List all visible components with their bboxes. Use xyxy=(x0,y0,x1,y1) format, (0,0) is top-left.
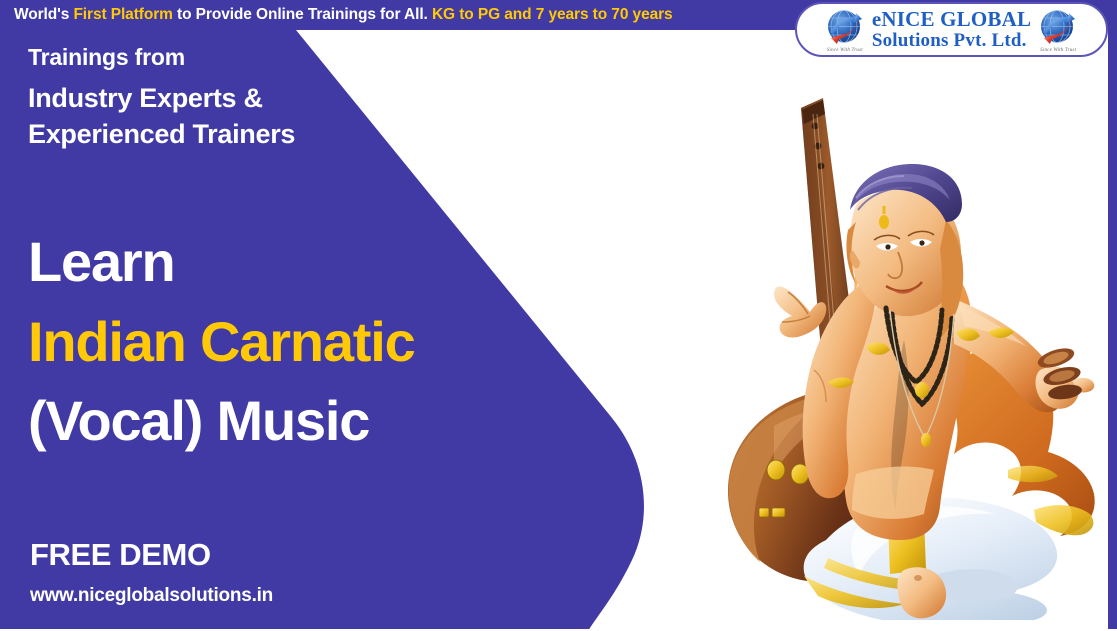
website-url[interactable]: www.niceglobalsolutions.in xyxy=(30,586,550,607)
headline-line-3: (Vocal) Music xyxy=(28,381,588,461)
promotional-banner: World's First Platform to Provide Online… xyxy=(0,0,1117,631)
free-demo-label: FREE DEMO xyxy=(30,538,550,572)
ribbon-seg-3: to Provide Online Trainings for All. xyxy=(173,6,432,23)
logo-tagline: Since With Trust xyxy=(823,48,867,53)
kicker-copy: Trainings from Industry Experts & Experi… xyxy=(28,44,568,151)
globe-arrow-logo-icon: Since With Trust xyxy=(823,8,867,52)
carnatic-musician-with-tambura-illustration xyxy=(604,70,1104,620)
right-edge-strip xyxy=(1108,0,1117,631)
headline: Learn Indian Carnatic (Vocal) Music xyxy=(28,222,588,461)
ribbon-seg-1: World's xyxy=(14,6,73,23)
kicker-line-2: Industry Experts & xyxy=(28,81,568,115)
logo-tagline-secondary: Since With Trust xyxy=(1036,48,1080,53)
headline-line-2: Indian Carnatic xyxy=(28,302,588,382)
ribbon-text: World's First Platform to Provide Online… xyxy=(14,7,673,23)
logo-company-name: eNICE GLOBAL xyxy=(872,9,1031,31)
headline-line-1: Learn xyxy=(28,222,588,302)
kicker-line-3: Experienced Trainers xyxy=(28,117,568,151)
logo-panel[interactable]: Since With Trust eNICE GLOBAL Solutions … xyxy=(795,2,1108,57)
footer-copy: FREE DEMO www.niceglobalsolutions.in xyxy=(30,538,550,607)
globe-arrow-logo-icon-secondary: Since With Trust xyxy=(1036,8,1080,52)
logo-company-suffix: Solutions Pvt. Ltd. xyxy=(872,31,1031,51)
kicker-line-1: Trainings from xyxy=(28,44,568,71)
logo-wordmark: eNICE GLOBAL Solutions Pvt. Ltd. xyxy=(872,9,1031,51)
ribbon-seg-4: KG to PG and 7 years to 70 years xyxy=(432,6,673,23)
ribbon-seg-2: First Platform xyxy=(73,6,172,23)
